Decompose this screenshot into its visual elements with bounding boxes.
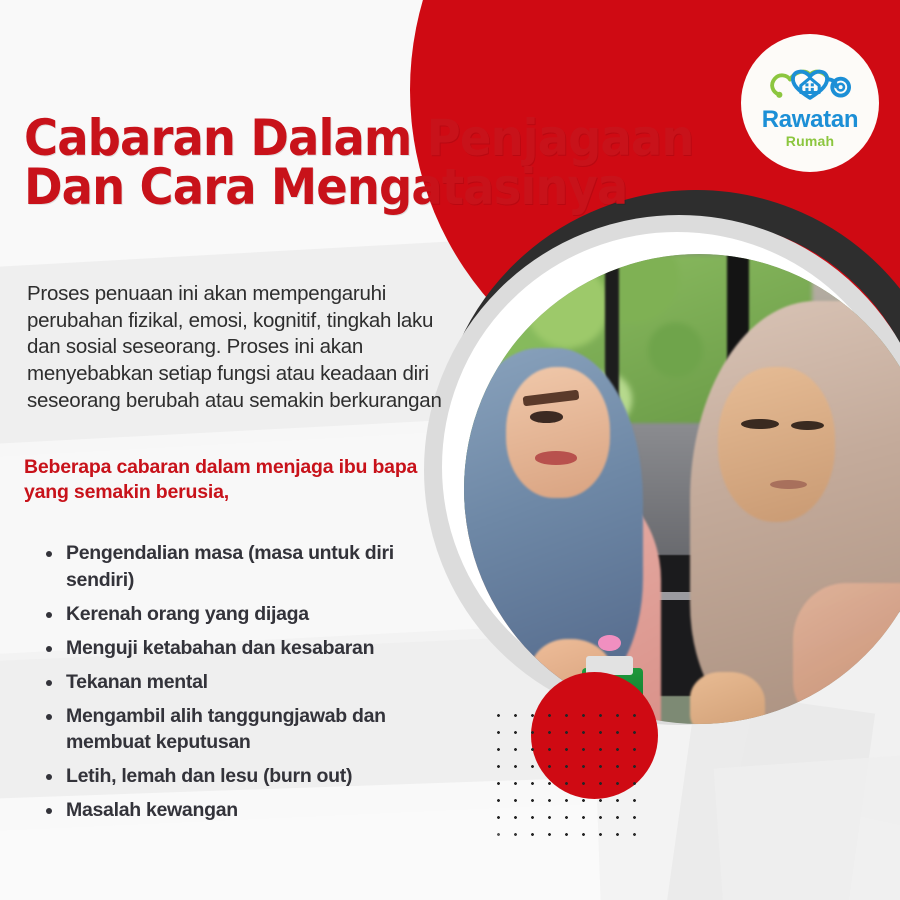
list-item: Pengendalian masa (masa untuk diri sendi… bbox=[36, 540, 456, 594]
list-item: Mengambil alih tanggungjawab dan membuat… bbox=[36, 703, 456, 757]
photo-elderly-hand bbox=[690, 672, 765, 724]
list-item: Masalah kewangan bbox=[36, 797, 456, 824]
title-line-1: Cabaran Dalam Penjagaan bbox=[24, 114, 638, 163]
list-item: Menguji ketabahan dan kesabaran bbox=[36, 635, 456, 662]
photo-elderly-eye bbox=[741, 419, 779, 429]
photo-elderly-mouth bbox=[770, 480, 808, 489]
brand-logo[interactable]: Rawatan Rumah bbox=[741, 34, 879, 172]
intro-paragraph: Proses penuaan ini akan mempengaruhi per… bbox=[27, 281, 452, 414]
photo-elderly-face bbox=[718, 367, 836, 522]
page-title: Cabaran Dalam Penjagaan Dan Cara Mengata… bbox=[24, 114, 638, 212]
section-subheading: Beberapa cabaran dalam menjaga ibu bapa … bbox=[24, 455, 434, 506]
title-line-2: Dan Cara Mengatasinya bbox=[24, 163, 638, 212]
logo-subname: Rumah bbox=[786, 134, 834, 148]
logo-name: Rawatan bbox=[762, 108, 859, 132]
caregiver-photo bbox=[464, 254, 900, 724]
photo-scene bbox=[464, 254, 900, 724]
heart-house-stethoscope-icon bbox=[764, 58, 856, 104]
photo-elderly-eye bbox=[791, 421, 824, 430]
list-item: Kerenah orang yang dijaga bbox=[36, 601, 456, 628]
list-item: Tekanan mental bbox=[36, 669, 456, 696]
photo-caregiver-lip bbox=[535, 451, 577, 464]
photo-caregiver-face bbox=[506, 367, 609, 499]
list-item: Letih, lemah dan lesu (burn out) bbox=[36, 763, 456, 790]
photo-elderly-garment bbox=[793, 583, 900, 724]
photo-pill bbox=[598, 635, 622, 651]
challenges-list: Pengendalian masa (masa untuk diri sendi… bbox=[36, 540, 456, 831]
photo-caregiver-eye bbox=[530, 411, 563, 422]
poster-canvas: Rawatan Rumah Cabaran Dalam Penjagaan Da… bbox=[0, 0, 900, 900]
dot-grid-pattern bbox=[490, 707, 650, 837]
background-shape bbox=[714, 752, 900, 900]
